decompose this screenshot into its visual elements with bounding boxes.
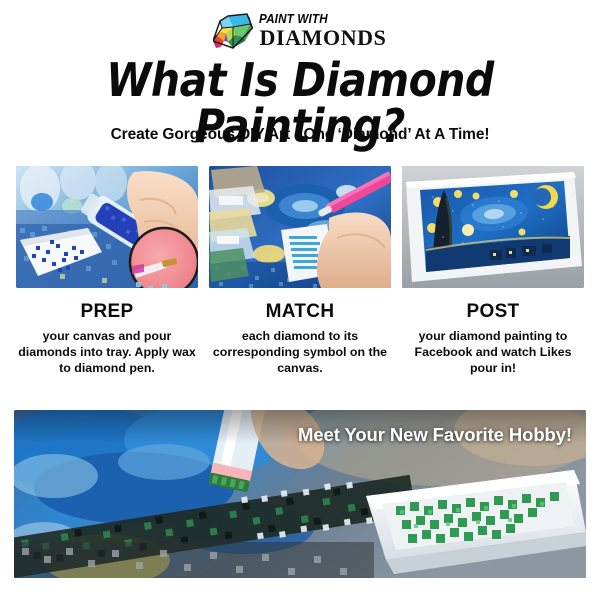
step-body-prep: your canvas and pour diamonds into tray.… [16,329,198,376]
step-body-post: your diamond painting to Facebook and wa… [402,329,584,376]
banner-caption: Meet Your New Favorite Hobby! [298,424,572,446]
brand-logo[interactable]: PAINT WITH DIAMONDS [0,8,600,54]
infographic-page: PAINT WITH DIAMONDS What Is Diamond Pain… [0,0,600,600]
step-card-prep: PREP your canvas and pour diamonds into … [16,166,198,376]
brand-logo-inner: PAINT WITH DIAMONDS [213,13,386,50]
step-card-match: MATCH each diamond to its corresponding … [209,166,391,376]
step-card-post: POST your diamond painting to Facebook a… [402,166,584,376]
photo-multi-placer-tool-and-green-drills: Meet Your New Favorite Hobby! [14,410,586,578]
brand-line-diamonds: DIAMONDS [259,27,386,49]
step-title-post: POST [402,301,584,323]
step-title-match: MATCH [209,301,391,323]
step-title-prep: PREP [16,301,198,323]
diamond-gem-icon [213,13,253,49]
photo-finished-starry-night-painting [402,166,584,288]
steps-row: PREP your canvas and pour diamonds into … [16,166,584,376]
brand-wordmark: PAINT WITH DIAMONDS [259,13,386,50]
step-body-match: each diamond to its corresponding symbol… [209,329,391,376]
photo-pouring-diamonds-into-tray [16,166,198,288]
brand-line-paint-with: PAINT WITH [259,13,328,26]
page-subtitle: Create Gorgeous DIY Art - One ‘Diamond’ … [0,126,600,144]
photo-matching-diamonds-on-canvas [209,166,391,288]
